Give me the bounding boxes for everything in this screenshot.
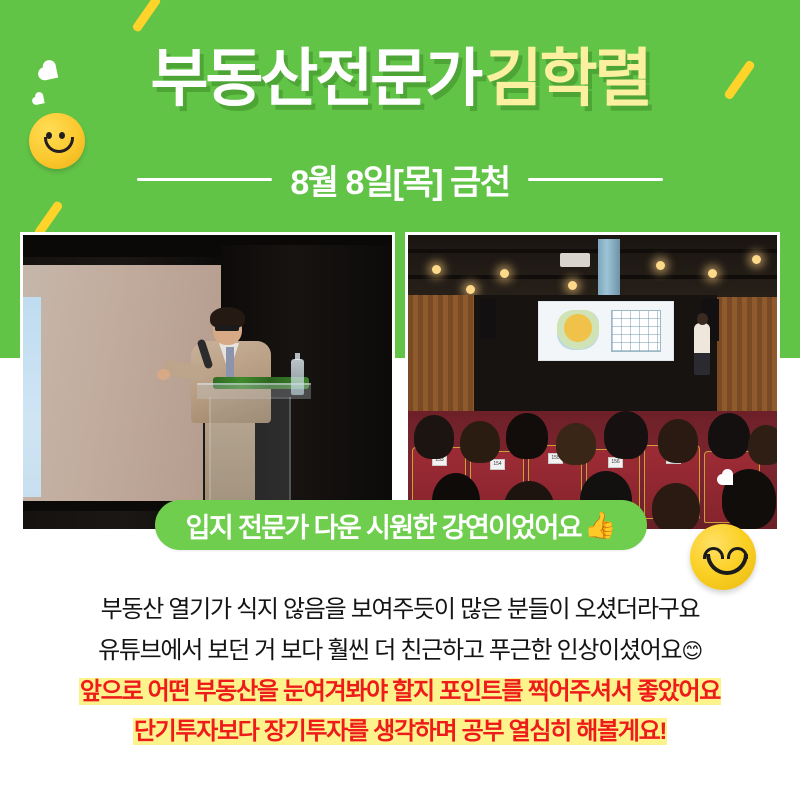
audience-head (556, 423, 596, 465)
wink-mouth (706, 554, 748, 575)
diagonal-slash-icon (131, 0, 161, 33)
audience-head (652, 483, 700, 529)
winking-face-emoji (690, 524, 756, 590)
audience-photo: 153 154 155 156 157 (405, 232, 780, 532)
photo-gallery: 153 154 155 156 157 (20, 232, 780, 532)
heart-icon (722, 474, 733, 485)
wood-wall-left (408, 295, 474, 425)
testimonial-line: 부동산 열기가 식지 않음을 보여주듯이 많은 분들이 오셨더라구요 (0, 590, 800, 631)
ceiling-light (432, 265, 441, 274)
ceiling-light (466, 285, 475, 294)
ceiling-light (708, 269, 717, 278)
speaker-tie (226, 347, 234, 377)
smiling-face-emoji: 😊 (681, 640, 702, 663)
speaker-glasses (215, 325, 239, 331)
thumbs-up-icon: 👍 (584, 512, 616, 538)
testimonial-line-text: 부동산 열기가 식지 않음을 보여주듯이 많은 분들이 오셨더라구요 (101, 596, 700, 623)
title-main-text: 부동산전문가 (150, 44, 480, 114)
pa-speaker (480, 299, 496, 339)
ceiling-light (500, 269, 509, 278)
speaker-photo (20, 232, 395, 532)
speaker-hand (157, 369, 170, 380)
audience-head (658, 419, 698, 463)
audience-head (748, 425, 777, 465)
testimonial-line: 유튜브에서 보던 거 보다 훨씬 더 친근하고 푸근한 인상이셨어요😊 (0, 631, 800, 672)
testimonial-text: 부동산 열기가 식지 않음을 보여주듯이 많은 분들이 오셨더라구요 유튜브에서… (0, 590, 800, 752)
audience-head (506, 413, 548, 459)
testimonial-line-text: 앞으로 어떤 부동산을 눈여겨봐야 할지 포인트를 찍어주셔서 좋았어요 (79, 678, 721, 705)
caption-text: 입지 전문가 다운 시원한 강연이었어요 (186, 506, 581, 545)
caption-banner: 입지 전문가 다운 시원한 강연이었어요 👍 (155, 500, 647, 550)
water-bottle (291, 359, 304, 395)
wood-wall-right (717, 297, 777, 427)
ceiling-beam (408, 249, 777, 253)
seat-number-tag: 154 (490, 459, 505, 470)
ceiling-light (752, 255, 761, 264)
date-row: 8월 8일[목] 금천 (0, 155, 800, 204)
testimonial-line: 앞으로 어떤 부동산을 눈여겨봐야 할지 포인트를 찍어주셔서 좋았어요 (0, 672, 800, 712)
ceiling-light (568, 281, 577, 290)
audience-head (414, 415, 454, 459)
date-rule-left (137, 178, 272, 181)
audience-head (708, 413, 750, 459)
slide-map-region (557, 310, 599, 350)
testimonial-line: 단기투자보다 장기투자를 생각하며 공부 열심히 해볼게요! (0, 712, 800, 752)
projection-slide (20, 297, 41, 497)
ceiling-beam (408, 275, 777, 279)
audience-head (604, 411, 648, 459)
title-name-text: 김학렬 (485, 44, 650, 114)
page-title: 부동산전문가 김학렬 (0, 48, 800, 111)
date-rule-right (528, 178, 663, 181)
ceiling-light (656, 261, 665, 270)
date-text: 8월 8일[목] 금천 (290, 155, 509, 204)
smiley-mouth (44, 137, 74, 153)
testimonial-line-text: 단기투자보다 장기투자를 생각하며 공부 열심히 해볼게요! (133, 718, 667, 745)
presentation-screen (538, 301, 674, 361)
podium-body (209, 397, 291, 515)
testimonial-line-text: 유튜브에서 보던 거 보다 훨씬 더 친근하고 푸근한 인상이셨어요 (98, 637, 681, 664)
ceiling-projector (560, 253, 590, 267)
audience-head (460, 421, 500, 463)
promo-card: 부동산전문가 김학렬 8월 8일[목] 금천 (0, 0, 800, 800)
presenter-figure (694, 323, 710, 375)
slide-map-grid (611, 310, 661, 352)
